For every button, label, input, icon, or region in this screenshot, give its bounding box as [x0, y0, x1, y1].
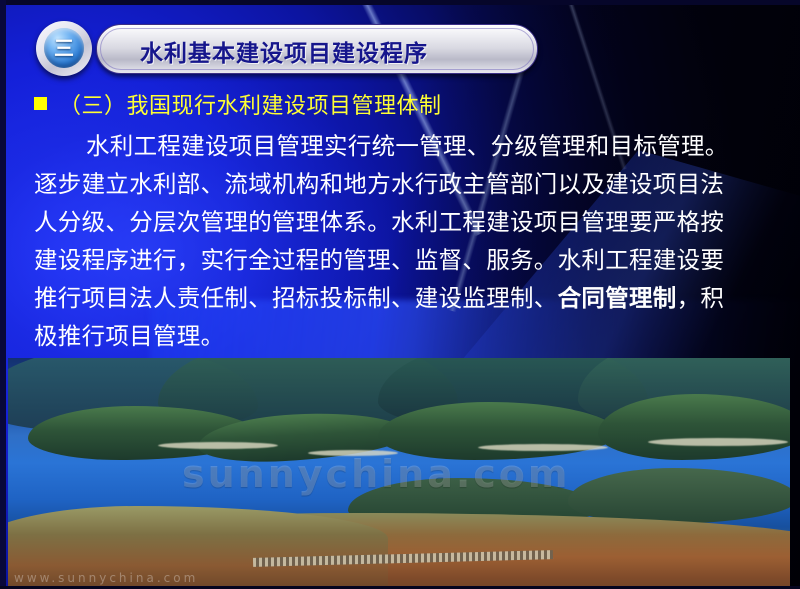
slide-frame-top: [0, 0, 800, 5]
section-heading: （三）我国现行水利建设项目管理体制: [59, 88, 442, 120]
body-line-6: 极推行项目管理。: [34, 317, 778, 355]
reservoir-aerial-photo: [8, 358, 790, 586]
body-line-1: 水利工程建设项目管理实行统一管理、分级管理和目标管理。: [34, 127, 778, 165]
section-badge-number: 三: [54, 38, 74, 58]
slide-frame-left: [0, 0, 6, 589]
slide-header: 三 水利基本建设项目建设程序: [36, 21, 536, 76]
section-badge: 三: [36, 21, 92, 76]
body-paragraph: 水利工程建设项目管理实行统一管理、分级管理和目标管理。 逐步建立水利部、流域机构…: [34, 127, 778, 355]
body-line-4: 建设程序进行，实行全过程的管理、监督、服务。水利工程建设要: [34, 241, 778, 279]
heading-bullet-line: （三）我国现行水利建设项目管理体制: [34, 88, 778, 120]
body-line-5-text: 推行项目法人责任制、招标投标制、建设监理制、: [34, 284, 558, 312]
body-emphasis-tail: ，积: [677, 284, 725, 312]
photo-foreground-land-left: [8, 506, 388, 586]
photo-shoreline: [478, 444, 608, 451]
body-line-2: 逐步建立水利部、流域机构和地方水行政主管部门以及建设项目法: [34, 165, 778, 203]
slide-content: （三）我国现行水利建设项目管理体制 水利工程建设项目管理实行统一管理、分级管理和…: [34, 88, 778, 355]
photo-shoreline: [648, 438, 788, 446]
photo-island: [568, 468, 790, 524]
page-title: 水利基本建设项目建设程序: [140, 34, 540, 68]
photo-shoreline: [158, 442, 278, 449]
body-line-5: 推行项目法人责任制、招标投标制、建设监理制、合同管理制，积: [34, 279, 778, 317]
body-emphasis: 合同管理制: [558, 284, 677, 312]
square-bullet-icon: [34, 97, 47, 110]
presentation-slide: 三 水利基本建设项目建设程序 （三）我国现行水利建设项目管理体制 水利工程建设项…: [0, 0, 800, 589]
photo-shoreline: [308, 450, 398, 456]
section-badge-core: 三: [44, 28, 84, 68]
body-line-3: 人分级、分层次管理的管理体系。水利工程建设项目管理要严格按: [34, 203, 778, 241]
